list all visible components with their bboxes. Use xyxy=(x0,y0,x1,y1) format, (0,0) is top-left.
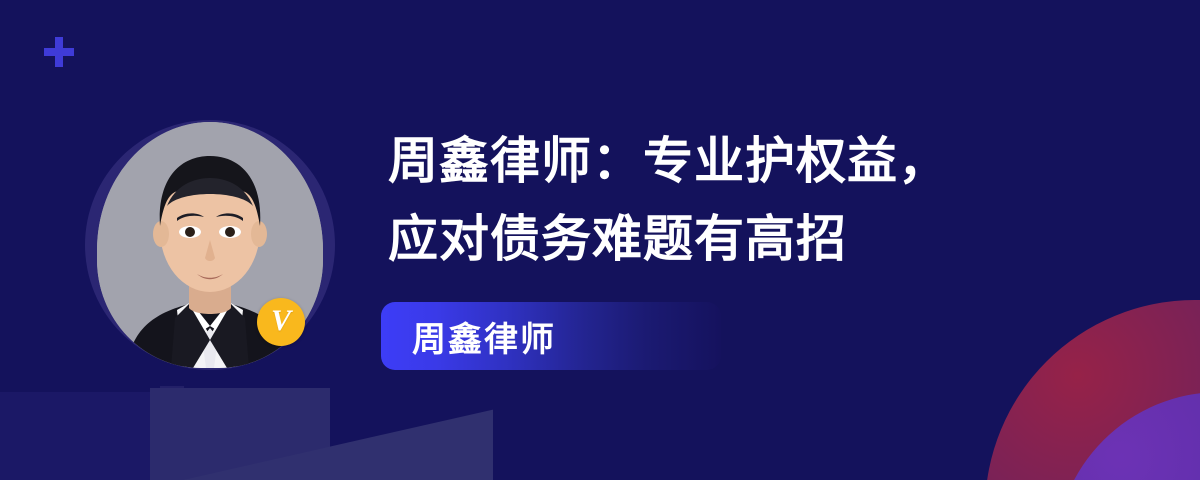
lawyer-name-badge[interactable]: 周鑫律师 xyxy=(381,302,721,370)
geometric-shape-column xyxy=(160,386,184,480)
headline-line-1: 周鑫律师：专业护权益， xyxy=(388,122,1088,200)
geometric-shape-triangle xyxy=(183,400,493,480)
avatar: V xyxy=(85,120,335,370)
geometric-shape-block xyxy=(150,388,330,480)
headline-line-2: 应对债务难题有高招 xyxy=(388,200,1088,278)
headline-block: 周鑫律师：专业护权益， 应对债务难题有高招 xyxy=(388,122,1088,278)
plus-icon xyxy=(44,37,74,67)
gradient-blob-purple xyxy=(1055,392,1200,480)
lawyer-name-label: 周鑫律师 xyxy=(412,312,556,361)
gradient-blob-bottom-right xyxy=(985,300,1200,480)
geometric-shape-left xyxy=(0,392,208,480)
page-title: 周鑫律师：专业护权益， 应对债务难题有高招 xyxy=(388,122,1088,278)
promo-banner: V 周鑫律师：专业护权益， 应对债务难题有高招 周鑫律师 xyxy=(0,0,1200,480)
plus-icon-bar-vertical xyxy=(55,37,63,67)
verified-badge-icon: V xyxy=(257,298,305,346)
verified-badge-glyph: V xyxy=(271,306,291,336)
